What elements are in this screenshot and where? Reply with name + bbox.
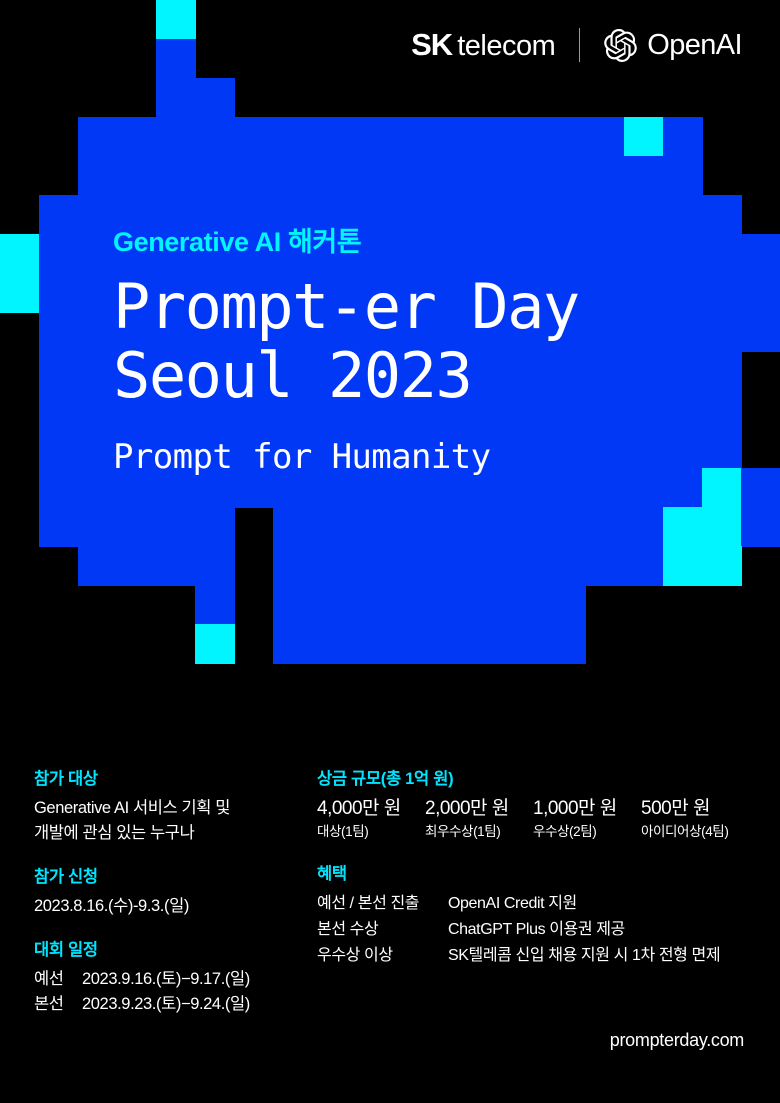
hero-block: Generative AI 해커톤 Prompt-er Day Seoul 20… <box>113 228 753 477</box>
prize-amount: 1,000만 원 <box>533 796 641 822</box>
benefit-row: 우수상 이상 SK텔레콤 신입 채용 지원 시 1차 전형 면제 <box>317 943 749 969</box>
blob-cell-blue <box>78 546 118 586</box>
blob-cell-blue <box>507 585 547 625</box>
application-heading: 참가 신청 <box>34 868 314 888</box>
blob-cell-cyan <box>702 546 742 586</box>
blob-cell-blue <box>468 546 508 586</box>
blob-cell-blue <box>663 156 703 196</box>
blob-cell-blue <box>195 156 235 196</box>
benefit-reward: OpenAI Credit 지원 <box>448 891 749 917</box>
blob-cell-blue <box>507 117 547 157</box>
blob-cell-blue <box>468 117 508 157</box>
blob-cell-blue <box>156 156 196 196</box>
blob-cell-blue <box>273 507 313 547</box>
blob-cell-blue <box>585 117 625 157</box>
blob-cell-blue <box>741 507 780 547</box>
blob-cell-blue <box>351 585 391 625</box>
blob-cell-blue <box>78 429 118 469</box>
schedule-block: 대회 일정 예선 2023.9.16.(토)−9.17.(일) 본선 2023.… <box>34 941 314 1017</box>
schedule-row: 예선 2023.9.16.(토)−9.17.(일) <box>34 967 314 992</box>
blob-cell-blue <box>39 429 79 469</box>
blob-cell-blue <box>546 156 586 196</box>
blob-cell-blue <box>117 507 157 547</box>
blob-cell-blue <box>312 585 352 625</box>
blob-cell-blue <box>390 117 430 157</box>
blob-cell-blue <box>156 546 196 586</box>
hero-subtitle: Prompt for Humanity <box>113 437 753 477</box>
benefits-block: 혜택 예선 / 본선 진출 OpenAI Credit 지원 본선 수상 Cha… <box>317 865 749 969</box>
blob-cell-blue <box>312 117 352 157</box>
blob-cell-blue <box>39 507 79 547</box>
blob-cell-blue <box>78 234 118 274</box>
blob-cell-blue <box>39 273 79 313</box>
audience-line-2: 개발에 관심 있는 누구나 <box>34 821 314 846</box>
blob-cell-blue <box>312 156 352 196</box>
blob-cell-blue <box>546 117 586 157</box>
blob-cell-blue <box>351 117 391 157</box>
blob-cell-cyan <box>663 546 703 586</box>
blob-cell-blue <box>39 195 79 235</box>
audience-block: 참가 대상 Generative AI 서비스 기획 및 개발에 관심 있는 누… <box>34 770 314 846</box>
sk-telecom-logo: SK telecom <box>411 27 555 63</box>
prize-item: 500만 원 아이디어상(4팀) <box>641 796 749 843</box>
blob-cell-blue <box>195 117 235 157</box>
blob-cell-cyan <box>0 234 40 274</box>
schedule-dates: 2023.9.16.(토)−9.17.(일) <box>82 967 314 992</box>
blob-cell-blue <box>156 507 196 547</box>
blob-cell-blue <box>195 507 235 547</box>
blob-cell-blue <box>585 156 625 196</box>
benefit-reward: ChatGPT Plus 이용권 제공 <box>448 917 749 943</box>
logo-row: SK telecom OpenAI <box>411 27 742 63</box>
audience-line-1: Generative AI 서비스 기획 및 <box>34 796 314 821</box>
prize-label: 최우수상(1팀) <box>425 821 533 843</box>
blob-cell-blue <box>390 546 430 586</box>
blob-cell-blue <box>546 585 586 625</box>
website-url[interactable]: prompterday.com <box>610 1030 744 1051</box>
blob-cell-blue <box>78 468 118 508</box>
prize-amount: 4,000만 원 <box>317 796 425 822</box>
blob-cell-cyan <box>195 624 235 664</box>
blob-cell-blue <box>312 507 352 547</box>
blob-cell-blue <box>468 585 508 625</box>
schedule-dates: 2023.9.23.(토)−9.24.(일) <box>82 992 314 1017</box>
sk-logo-mark: SK <box>411 27 452 63</box>
blob-cell-blue <box>351 624 391 664</box>
prize-grid: 4,000만 원 대상(1팀) 2,000만 원 최우수상(1팀) 1,000만… <box>317 796 749 843</box>
blob-cell-blue <box>273 585 313 625</box>
blob-cell-blue <box>195 585 235 625</box>
blob-cell-blue <box>273 156 313 196</box>
blob-cell-blue <box>429 117 469 157</box>
blob-cell-blue <box>624 156 664 196</box>
info-column-left: 참가 대상 Generative AI 서비스 기획 및 개발에 관심 있는 누… <box>34 770 314 1103</box>
application-block: 참가 신청 2023.8.16.(수)-9.3.(일) <box>34 868 314 919</box>
blob-cell-blue <box>312 624 352 664</box>
benefit-condition: 우수상 이상 <box>317 943 448 969</box>
blob-cell-blue <box>429 156 469 196</box>
blob-cell-blue <box>546 624 586 664</box>
blob-cell-blue <box>234 117 274 157</box>
schedule-stage: 본선 <box>34 992 82 1017</box>
openai-logo-icon <box>604 29 637 62</box>
application-period: 2023.8.16.(수)-9.3.(일) <box>34 894 314 919</box>
prize-label: 대상(1팀) <box>317 821 425 843</box>
prize-label: 아이디어상(4팀) <box>641 821 749 843</box>
blob-cell-blue <box>624 546 664 586</box>
blob-cell-blue <box>39 390 79 430</box>
blob-cell-blue <box>312 546 352 586</box>
info-section: 참가 대상 Generative AI 서비스 기획 및 개발에 관심 있는 누… <box>0 770 780 1103</box>
blob-cell-blue <box>624 507 664 547</box>
benefits-heading: 혜택 <box>317 865 749 885</box>
blob-cell-cyan <box>624 117 664 157</box>
benefit-condition: 예선 / 본선 진출 <box>317 891 448 917</box>
schedule-row: 본선 2023.9.23.(토)−9.24.(일) <box>34 992 314 1017</box>
blob-cell-blue <box>117 156 157 196</box>
poster-canvas: SK telecom OpenAI Generative AI 해커톤 Prom… <box>0 0 780 1103</box>
blob-cell-blue <box>78 390 118 430</box>
blob-cell-blue <box>78 195 118 235</box>
benefit-row: 예선 / 본선 진출 OpenAI Credit 지원 <box>317 891 749 917</box>
brand-header: SK telecom OpenAI <box>0 0 780 90</box>
schedule-stage: 예선 <box>34 967 82 992</box>
blob-cell-blue <box>78 117 118 157</box>
blob-cell-blue <box>468 156 508 196</box>
benefit-row: 본선 수상 ChatGPT Plus 이용권 제공 <box>317 917 749 943</box>
blob-cell-blue <box>429 507 469 547</box>
blob-cell-blue <box>39 234 79 274</box>
blob-cell-blue <box>507 156 547 196</box>
blob-cell-cyan <box>702 507 742 547</box>
prize-amount: 500만 원 <box>641 796 749 822</box>
blob-cell-blue <box>156 117 196 157</box>
benefit-condition: 본선 수상 <box>317 917 448 943</box>
hero-title-line-2: Seoul 2023 <box>113 341 753 410</box>
info-column-right: 상금 규모(총 1억 원) 4,000만 원 대상(1팀) 2,000만 원 최… <box>314 770 749 1103</box>
benefit-reward: SK텔레콤 신입 채용 지원 시 1차 전형 면제 <box>448 943 749 969</box>
blob-cell-cyan <box>0 273 40 313</box>
blob-cell-blue <box>39 312 79 352</box>
blob-cell-blue <box>273 117 313 157</box>
blob-cell-blue <box>351 156 391 196</box>
prize-label: 우수상(2팀) <box>533 821 641 843</box>
blob-cell-blue <box>429 585 469 625</box>
blob-cell-blue <box>78 273 118 313</box>
blob-cell-blue <box>663 117 703 157</box>
blob-cell-blue <box>546 546 586 586</box>
sk-logo-word: telecom <box>457 30 555 63</box>
prize-item: 1,000만 원 우수상(2팀) <box>533 796 641 843</box>
blob-cell-blue <box>234 156 274 196</box>
blob-cell-blue <box>507 507 547 547</box>
audience-heading: 참가 대상 <box>34 770 314 790</box>
blob-cell-blue <box>468 624 508 664</box>
blob-cell-blue <box>39 351 79 391</box>
blob-cell-blue <box>468 507 508 547</box>
blob-cell-blue <box>390 585 430 625</box>
blob-cell-blue <box>78 351 118 391</box>
blob-cell-blue <box>78 312 118 352</box>
prize-item: 2,000만 원 최우수상(1팀) <box>425 796 533 843</box>
hero-eyebrow: Generative AI 해커톤 <box>113 228 753 258</box>
blob-cell-cyan <box>663 507 703 547</box>
blob-cell-blue <box>117 117 157 157</box>
blob-cell-blue <box>273 546 313 586</box>
blob-cell-blue <box>429 624 469 664</box>
prizes-block: 상금 규모(총 1억 원) 4,000만 원 대상(1팀) 2,000만 원 최… <box>317 770 749 843</box>
prize-amount: 2,000만 원 <box>425 796 533 822</box>
openai-logo-word: OpenAI <box>647 29 742 62</box>
prizes-heading: 상금 규모(총 1억 원) <box>317 770 749 790</box>
prize-item: 4,000만 원 대상(1팀) <box>317 796 425 843</box>
schedule-heading: 대회 일정 <box>34 941 314 961</box>
blob-cell-blue <box>585 507 625 547</box>
blob-cell-blue <box>273 624 313 664</box>
blob-cell-blue <box>429 546 469 586</box>
blob-cell-blue <box>39 468 79 508</box>
blob-cell-blue <box>78 156 118 196</box>
logo-separator <box>579 28 580 62</box>
blob-cell-blue <box>390 507 430 547</box>
blob-cell-blue <box>390 156 430 196</box>
blob-cell-blue <box>195 546 235 586</box>
blob-cell-blue <box>117 546 157 586</box>
blob-cell-blue <box>351 507 391 547</box>
blob-cell-blue <box>390 624 430 664</box>
blob-cell-blue <box>507 546 547 586</box>
blob-cell-blue <box>351 546 391 586</box>
openai-logo: OpenAI <box>604 29 742 62</box>
blob-cell-blue <box>546 507 586 547</box>
hero-title-line-1: Prompt-er Day <box>113 272 753 341</box>
blob-cell-blue <box>585 546 625 586</box>
blob-cell-blue <box>78 507 118 547</box>
blob-cell-blue <box>507 624 547 664</box>
